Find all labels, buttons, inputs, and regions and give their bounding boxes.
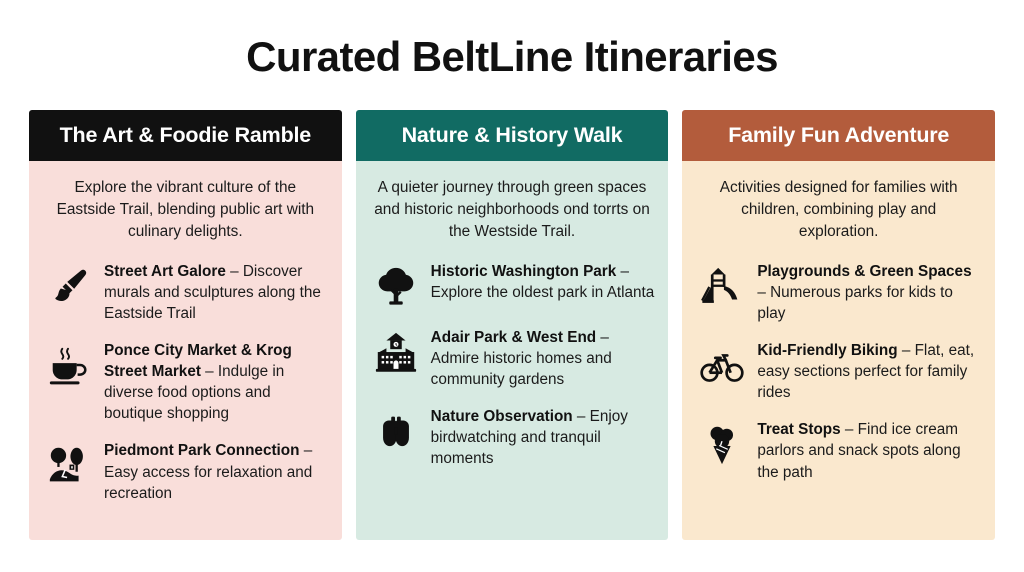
list-item: Piedmont Park Connection – Easy access f… (43, 440, 328, 503)
card-header-label: The Art & Foodie Ramble (60, 123, 311, 148)
list-item-text: Adair Park & West End – Admire historic … (431, 327, 655, 390)
itinerary-card-family-fun: Family Fun Adventure Activities designed… (682, 110, 995, 540)
list-item: Street Art Galore – Discover murals and … (43, 261, 328, 324)
list-item: Treat Stops – Find ice cream parlors and… (696, 419, 981, 482)
list-item: Adair Park & West End – Admire historic … (370, 327, 655, 390)
card-description: Explore the vibrant culture of the Easts… (47, 177, 324, 243)
card-body-nature-history: A quieter journey through green spaces a… (356, 161, 669, 540)
card-description: A quieter journey through green spaces a… (374, 177, 651, 243)
list-item: Ponce City Market & Krog Street Market –… (43, 340, 328, 424)
list-item-text: Piedmont Park Connection – Easy access f… (104, 440, 328, 503)
list-item-text: Ponce City Market & Krog Street Market –… (104, 340, 328, 424)
itinerary-card-nature-history: Nature & History Walk A quieter journey … (356, 110, 669, 540)
itinerary-cards: The Art & Foodie Ramble Explore the vibr… (0, 110, 1024, 540)
bicycle-icon (698, 342, 746, 390)
list-item-term: Kid-Friendly Biking (757, 342, 897, 359)
list-item-text: Playgrounds & Green Spaces – Numerous pa… (757, 261, 981, 324)
playground-slide-icon (698, 263, 746, 311)
list-item-text: Treat Stops – Find ice cream parlors and… (757, 419, 981, 482)
page-title: Curated BeltLine Itineraries (0, 0, 1024, 78)
card-header-label: Nature & History Walk (402, 123, 623, 148)
list-item-term: Street Art Galore (104, 263, 226, 280)
card-body-family-fun: Activities designed for families with ch… (682, 161, 995, 540)
list-item-term: Historic Washington Park (431, 263, 617, 280)
card-description: Activities designed for families with ch… (700, 177, 977, 243)
list-item-text: Street Art Galore – Discover murals and … (104, 261, 328, 324)
list-item-text: Historic Washington Park – Explore the o… (431, 261, 655, 303)
paintbrush-icon (45, 263, 93, 311)
list-item-detail: – Numerous parks for kids to play (757, 284, 953, 322)
park-trees-icon (45, 442, 93, 490)
list-item: Playgrounds & Green Spaces – Numerous pa… (696, 261, 981, 324)
card-header-nature-history: Nature & History Walk (356, 110, 669, 161)
list-item-text: Nature Observation – Enjoy birdwatching … (431, 406, 655, 469)
itinerary-card-art-foodie: The Art & Foodie Ramble Explore the vibr… (29, 110, 342, 540)
list-item-text: Kid-Friendly Biking – Flat, eat, easy se… (757, 340, 981, 403)
list-item: Nature Observation – Enjoy birdwatching … (370, 406, 655, 469)
list-item-term: Nature Observation (431, 408, 573, 425)
historic-building-icon (372, 329, 420, 377)
list-item-term: Treat Stops (757, 421, 840, 438)
list-item-term: Adair Park & West End (431, 329, 596, 346)
list-item: Kid-Friendly Biking – Flat, eat, easy se… (696, 340, 981, 403)
card-body-art-foodie: Explore the vibrant culture of the Easts… (29, 161, 342, 540)
card-header-label: Family Fun Adventure (728, 123, 949, 148)
binoculars-icon (372, 408, 420, 456)
coffee-cup-icon (45, 342, 93, 390)
list-item-term: Playgrounds & Green Spaces (757, 263, 971, 280)
list-item: Historic Washington Park – Explore the o… (370, 261, 655, 311)
card-header-art-foodie: The Art & Foodie Ramble (29, 110, 342, 161)
ice-cream-cone-icon (698, 421, 746, 469)
list-item-term: Piedmont Park Connection (104, 442, 299, 459)
card-header-family-fun: Family Fun Adventure (682, 110, 995, 161)
tree-icon (372, 263, 420, 311)
